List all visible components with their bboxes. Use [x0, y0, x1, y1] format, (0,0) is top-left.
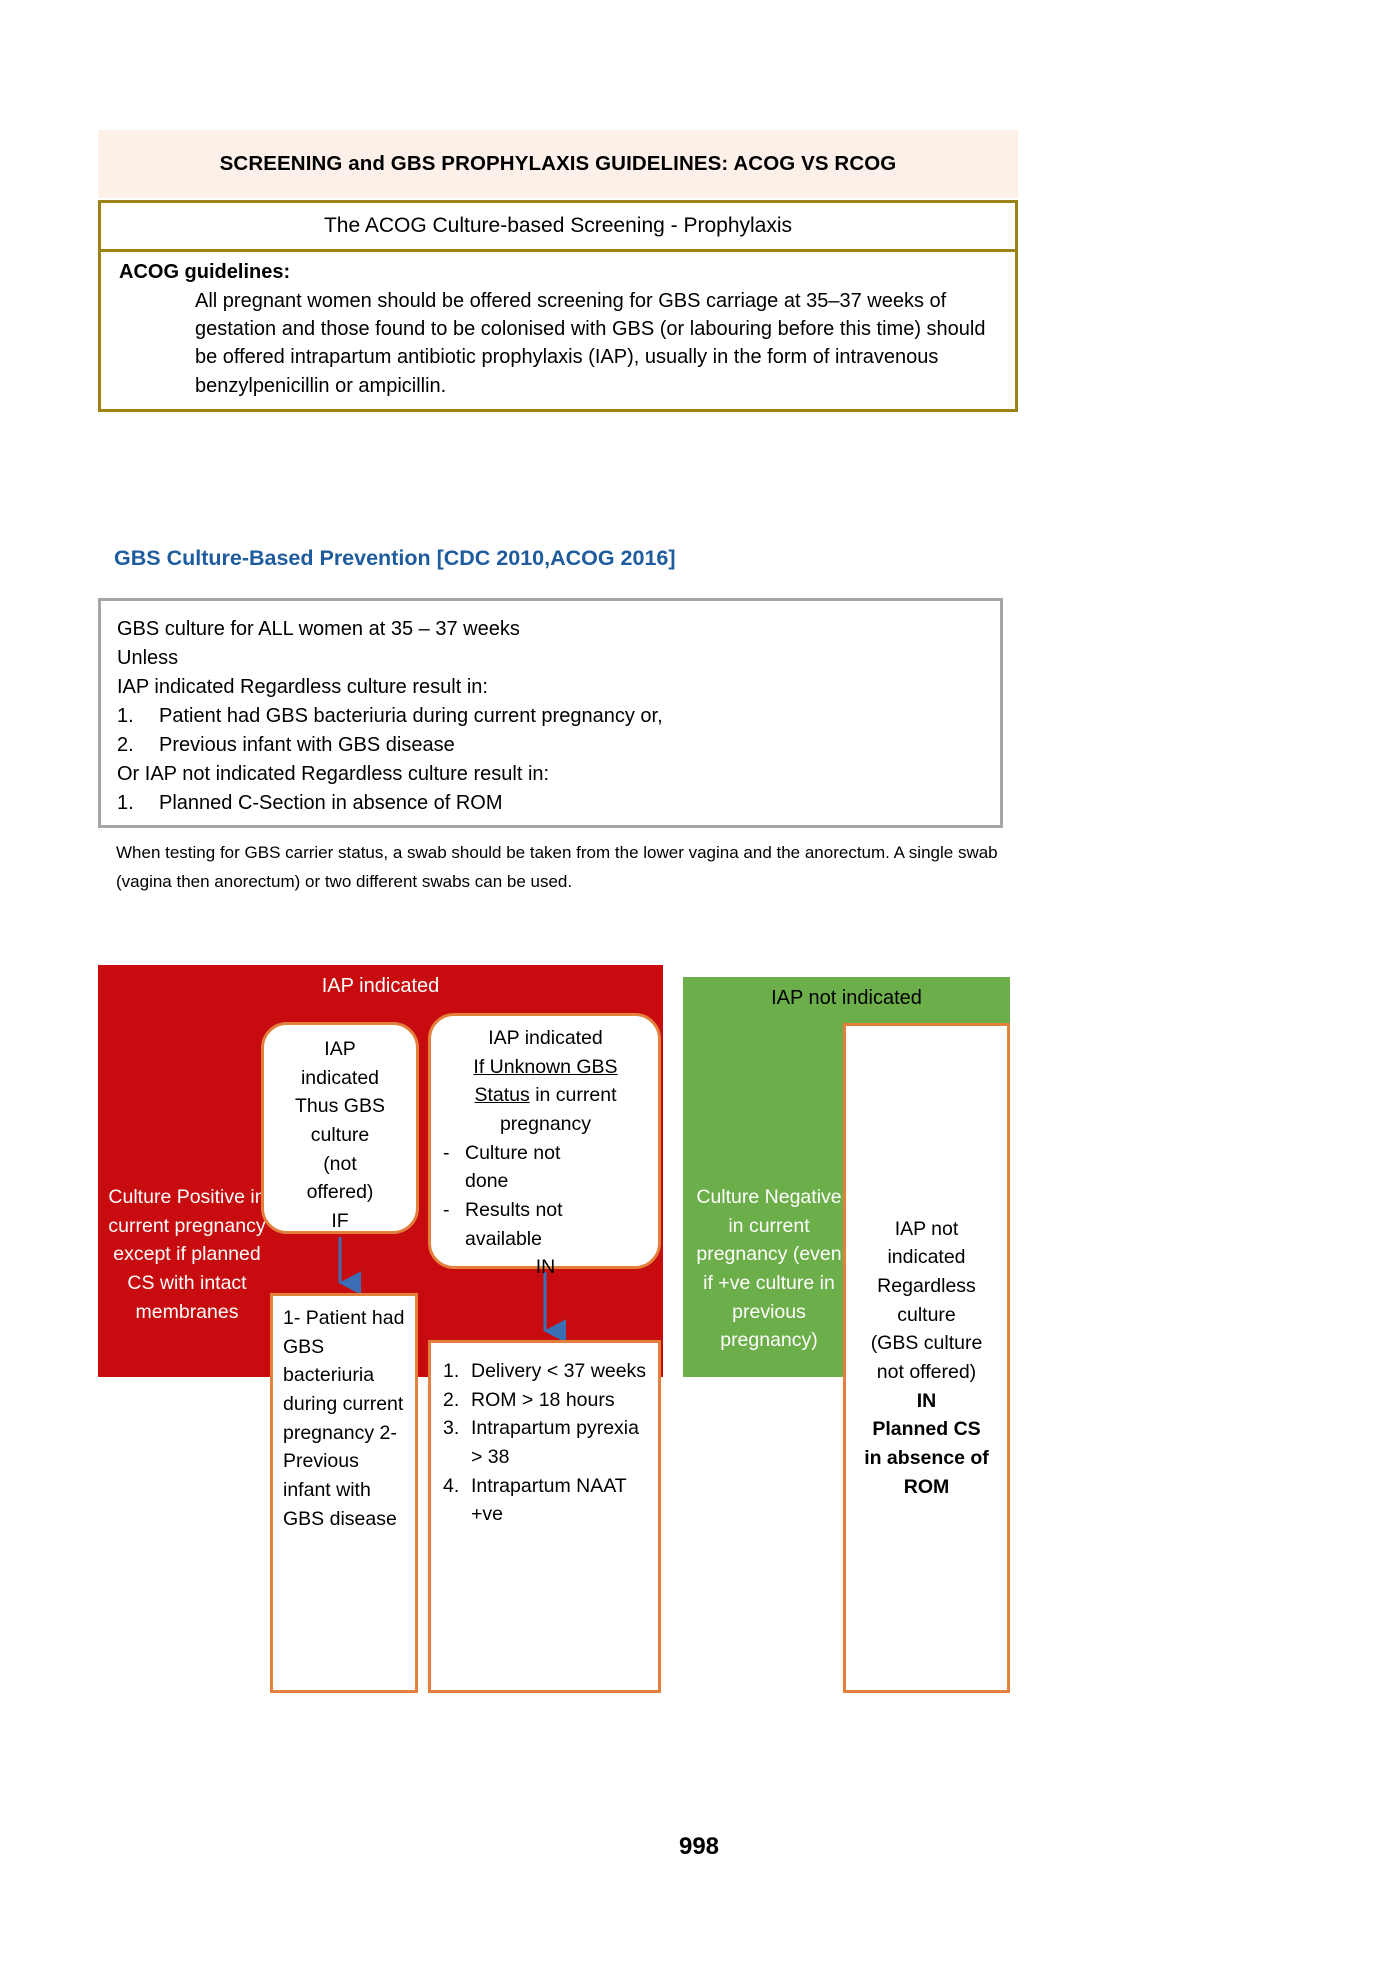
box2-line-2: If Unknown GBS	[443, 1053, 648, 1082]
acog-guidelines-label: ACOG guidelines:	[119, 260, 1001, 286]
box2-line-3: Status in current	[443, 1081, 648, 1110]
gbs-list-item-3-text: Planned C-Section in absence of ROM	[159, 789, 503, 818]
box-patient-history: 1- Patient had GBS bacteriuria during cu…	[270, 1293, 418, 1693]
gbs-list-item-1: 1. Patient had GBS bacteriuria during cu…	[117, 702, 988, 731]
acog-box-header: The ACOG Culture-based Screening - Proph…	[98, 200, 1018, 252]
risk-factor-number: 2.	[443, 1386, 471, 1415]
title-banner: SCREENING and GBS PROPHYLAXIS GUIDELINES…	[98, 130, 1018, 198]
box-iap-not-indicated: IAP not indicated Regardless culture (GB…	[843, 1023, 1010, 1693]
gbs-line-unless: Unless	[117, 644, 988, 673]
box-iap-indicated-unknown-gbs-status: IAP indicated If Unknown GBS Status in c…	[428, 1013, 661, 1269]
risk-factor-text: Intrapartum NAAT +ve	[471, 1472, 650, 1529]
risk-factor-number: 3.	[443, 1414, 471, 1471]
box2-dash-1-text: Culture not	[465, 1139, 560, 1168]
page-number: 998	[0, 1833, 1398, 1861]
box2-dash-2-cont-spacer	[443, 1225, 465, 1254]
section-heading-gbs-culture-based-prevention: GBS Culture-Based Prevention [CDC 2010,A…	[114, 546, 676, 571]
box2-dash-2-marker: -	[443, 1196, 465, 1225]
box2-dash-2-text-b: available	[465, 1225, 542, 1254]
acog-box-header-text: The ACOG Culture-based Screening - Proph…	[324, 214, 792, 238]
red-panel-title: IAP indicated	[98, 975, 663, 998]
gbs-list-item-3: 1. Planned C-Section in absence of ROM	[117, 789, 988, 818]
box5-line-rom: ROM	[852, 1473, 1001, 1502]
box2-dash-1-text-b: done	[465, 1167, 508, 1196]
gbs-list-item-3-number: 1.	[117, 789, 159, 818]
box1-line-1: IAP	[270, 1035, 410, 1064]
gbs-line-culture-all-women: GBS culture for ALL women at 35 – 37 wee…	[117, 615, 988, 644]
risk-factor-text: Intrapartum pyrexia > 38	[471, 1414, 650, 1471]
box-iap-indicated-thus-gbs-culture: IAP indicated Thus GBS culture (not offe…	[261, 1022, 419, 1234]
risk-factor-text: Delivery < 37 weeks	[471, 1357, 650, 1386]
box1-line-3: Thus GBS	[270, 1092, 410, 1121]
box5-line-absence: in absence of	[852, 1444, 1001, 1473]
risk-factor-number: 4.	[443, 1472, 471, 1529]
gbs-list-item-1-number: 1.	[117, 702, 159, 731]
box5-line-5: (GBS culture	[852, 1329, 1001, 1358]
box2-dash-1-cont-spacer	[443, 1167, 465, 1196]
box2-dash-1-cont: done	[443, 1167, 648, 1196]
acog-box-body: ACOG guidelines: All pregnant women shou…	[98, 252, 1018, 412]
box1-line-4: culture	[270, 1121, 410, 1150]
box2-dash-2: - Results not	[443, 1196, 648, 1225]
gbs-list-item-2: 2. Previous infant with GBS disease	[117, 731, 988, 760]
risk-factor-item: 1. Delivery < 37 weeks	[443, 1357, 650, 1386]
red-column-culture-positive-text: Culture Positive in current pregnancy ex…	[102, 1183, 272, 1326]
acog-guidelines-paragraph: All pregnant women should be offered scr…	[119, 287, 1001, 401]
iap-decision-diagram: IAP indicated IAP not indicated Culture …	[98, 965, 1018, 1380]
gbs-list-item-1-text: Patient had GBS bacteriuria during curre…	[159, 702, 663, 731]
box2-line-4: pregnancy	[443, 1110, 648, 1139]
gbs-prevention-box: GBS culture for ALL women at 35 – 37 wee…	[98, 598, 1003, 828]
box2-dash-2-text: Results not	[465, 1196, 563, 1225]
gbs-line-iap-indicated: IAP indicated Regardless culture result …	[117, 673, 988, 702]
risk-factor-item: 3. Intrapartum pyrexia > 38	[443, 1414, 650, 1471]
box1-line-2: indicated	[270, 1064, 410, 1093]
box2-dash-1-marker: -	[443, 1139, 465, 1168]
document-page: SCREENING and GBS PROPHYLAXIS GUIDELINES…	[0, 0, 1398, 1988]
box1-line-6: offered)	[270, 1178, 410, 1207]
green-panel-title: IAP not indicated	[683, 987, 1010, 1010]
gbs-list-item-2-number: 2.	[117, 731, 159, 760]
box2-line-1: IAP indicated	[443, 1024, 648, 1053]
box-risk-factors: 1. Delivery < 37 weeks 2. ROM > 18 hours…	[428, 1340, 661, 1693]
box5-line-2: indicated	[852, 1243, 1001, 1272]
risk-factor-number: 1.	[443, 1357, 471, 1386]
green-column-culture-negative-text: Culture Negative in current pregnancy (e…	[690, 1183, 848, 1355]
document-title: SCREENING and GBS PROPHYLAXIS GUIDELINES…	[220, 152, 897, 176]
swab-testing-note: When testing for GBS carrier status, a s…	[116, 838, 1016, 896]
box2-underline-unknown-gbs: If Unknown GBS	[473, 1056, 617, 1078]
box5-line-3: Regardless	[852, 1272, 1001, 1301]
box2-line-3-rest: in current	[530, 1084, 617, 1106]
box5-line-1: IAP not	[852, 1215, 1001, 1244]
risk-factor-text: ROM > 18 hours	[471, 1386, 615, 1415]
box5-line-planned-cs: Planned CS	[852, 1415, 1001, 1444]
risk-factor-item: 2. ROM > 18 hours	[443, 1386, 650, 1415]
box2-underline-status: Status	[475, 1084, 530, 1106]
box5-inner: IAP not indicated Regardless culture (GB…	[852, 1215, 1001, 1502]
box5-line-4: culture	[852, 1301, 1001, 1330]
box5-line-6: not offered)	[852, 1358, 1001, 1387]
gbs-list-item-2-text: Previous infant with GBS disease	[159, 731, 455, 760]
box2-line-in: IN	[443, 1253, 648, 1282]
box2-dash-1: - Culture not	[443, 1139, 648, 1168]
box2-dash-2-cont: available	[443, 1225, 648, 1254]
box5-line-in: IN	[852, 1387, 1001, 1416]
box1-line-7: IF	[270, 1207, 410, 1236]
risk-factor-item: 4. Intrapartum NAAT +ve	[443, 1472, 650, 1529]
gbs-line-iap-not-indicated: Or IAP not indicated Regardless culture …	[117, 760, 988, 789]
box1-line-5: (not	[270, 1150, 410, 1179]
